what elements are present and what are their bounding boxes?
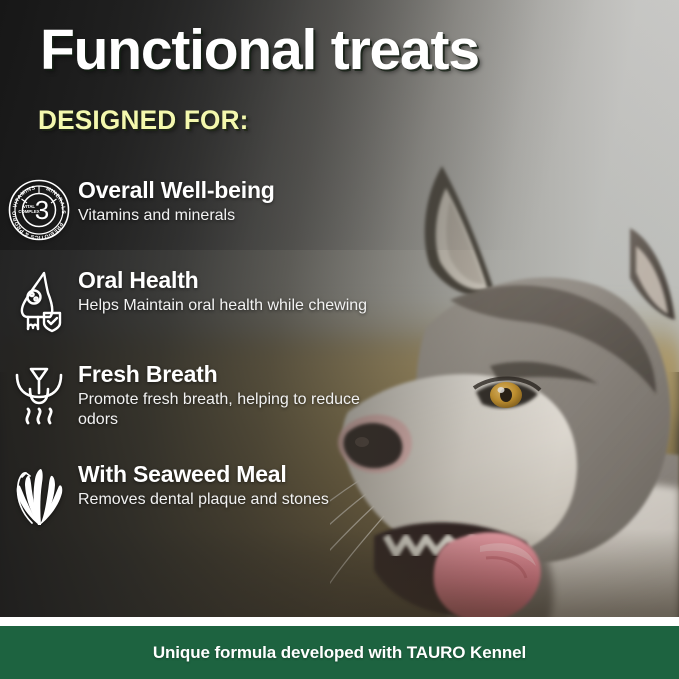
feature-item-fresh-breath: Fresh Breath Promote fresh breath, helpi… (0, 359, 430, 459)
feature-text: Fresh Breath Promote fresh breath, helpi… (78, 359, 378, 430)
svg-text:COMPLEX: COMPLEX (18, 209, 39, 214)
tooth-shield-check-icon (0, 265, 78, 333)
banner-text: Unique formula developed with TAURO Kenn… (153, 643, 526, 663)
bottom-banner: Unique formula developed with TAURO Kenn… (0, 626, 679, 679)
feature-subtitle: Removes dental plaque and stones (78, 490, 329, 510)
dog-muzzle-breath-icon (0, 359, 78, 429)
vital-complex-3-badge-icon: VITAMINS MINERALS PREBIOTICS & PROBIOTIC… (0, 175, 78, 241)
feature-title: Oral Health (78, 267, 367, 294)
product-feature-poster: Functional treats DESIGNED FOR: VITA (0, 0, 679, 679)
feature-text: Oral Health Helps Maintain oral health w… (78, 265, 367, 316)
feature-title: Fresh Breath (78, 361, 378, 388)
feature-item-seaweed-meal: With Seaweed Meal Removes dental plaque … (0, 459, 430, 549)
page-title: Functional treats (40, 22, 479, 79)
feature-item-overall-wellbeing: VITAMINS MINERALS PREBIOTICS & PROBIOTIC… (0, 175, 430, 265)
feature-item-oral-health: Oral Health Helps Maintain oral health w… (0, 265, 430, 359)
subheading: DESIGNED FOR: (38, 105, 249, 136)
banner-separator (0, 617, 679, 626)
feature-subtitle: Promote fresh breath, helping to reduce … (78, 390, 378, 430)
feature-subtitle: Vitamins and minerals (78, 206, 275, 226)
feature-text: With Seaweed Meal Removes dental plaque … (78, 459, 329, 510)
feature-subtitle: Helps Maintain oral health while chewing (78, 296, 367, 316)
feature-list: VITAMINS MINERALS PREBIOTICS & PROBIOTIC… (0, 175, 430, 549)
feature-text: Overall Well-being Vitamins and minerals (78, 175, 275, 226)
feature-title: Overall Well-being (78, 177, 275, 204)
feature-title: With Seaweed Meal (78, 461, 329, 488)
seaweed-kelp-icon (0, 459, 78, 527)
